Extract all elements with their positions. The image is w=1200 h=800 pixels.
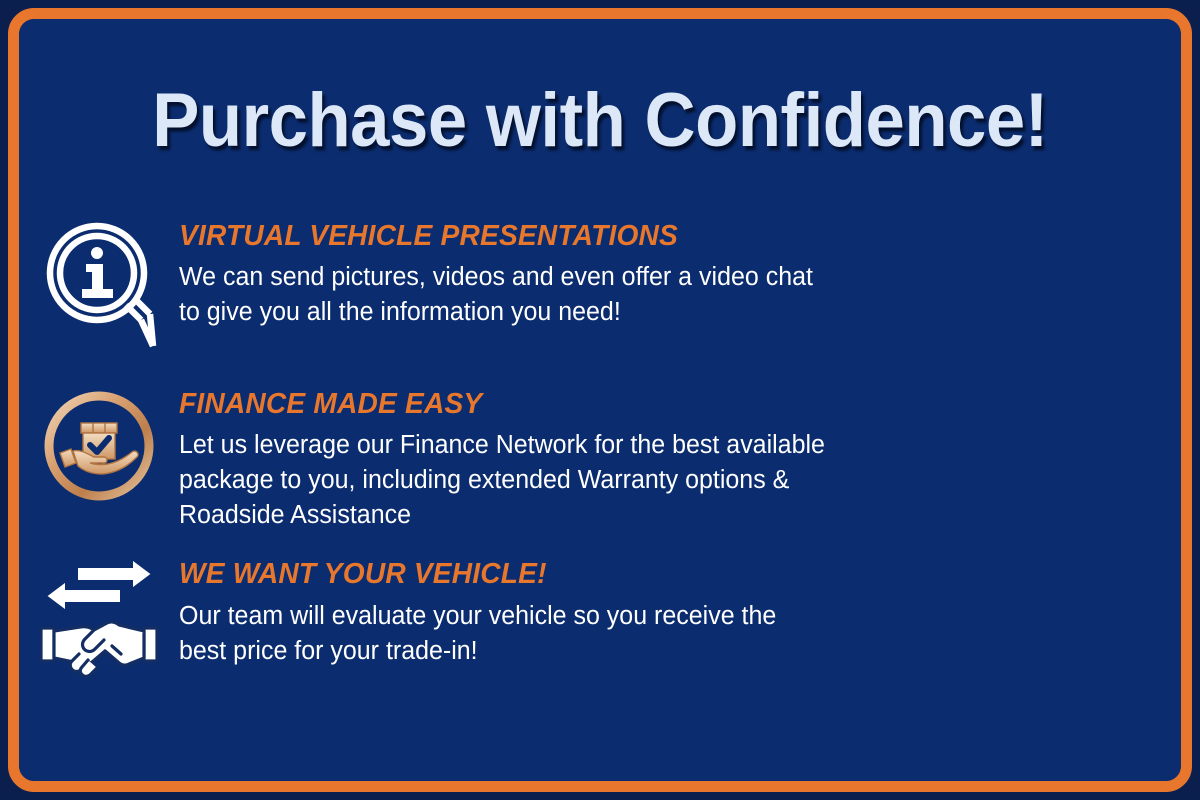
feature-body-line: We can send pictures, videos and even of… (179, 260, 813, 295)
feature-heading: VIRTUAL VEHICLE PRESENTATIONS (179, 221, 806, 251)
feature-item-virtual-presentations: VIRTUAL VEHICLE PRESENTATIONS We can sen… (19, 215, 1181, 355)
feature-body-line: Let us leverage our Finance Network for … (179, 428, 825, 463)
feature-heading: WE WANT YOUR VEHICLE! (179, 559, 770, 589)
feature-body: Let us leverage our Finance Network for … (179, 428, 825, 533)
exchange-arrows-handshake-icon (33, 557, 165, 679)
feature-body: We can send pictures, videos and even of… (179, 260, 813, 330)
hand-holding-package-check-icon (40, 387, 158, 505)
orange-border-frame: Purchase with Confidence! (8, 8, 1192, 792)
feature-body-line: Our team will evaluate your vehicle so y… (179, 599, 776, 634)
feature-heading: FINANCE MADE EASY (179, 389, 818, 419)
feature-icon-cell (19, 215, 179, 351)
feature-body-line: best price for your trade-in! (179, 634, 776, 669)
promo-banner: Purchase with Confidence! (0, 0, 1200, 800)
feature-icon-cell (19, 553, 179, 679)
feature-text-cell: VIRTUAL VEHICLE PRESENTATIONS We can sen… (179, 215, 826, 330)
feature-item-finance-made-easy: FINANCE MADE EASY Let us leverage our Fi… (19, 383, 1181, 533)
feature-text-cell: FINANCE MADE EASY Let us leverage our Fi… (179, 383, 838, 533)
feature-body: Our team will evaluate your vehicle so y… (179, 599, 776, 669)
banner-title: Purchase with Confidence! (60, 83, 1141, 159)
feature-icon-cell (19, 383, 179, 505)
feature-text-cell: WE WANT YOUR VEHICLE! Our team will eval… (179, 553, 788, 668)
feature-item-we-want-your-vehicle: WE WANT YOUR VEHICLE! Our team will eval… (19, 553, 1181, 693)
feature-list: VIRTUAL VEHICLE PRESENTATIONS We can sen… (19, 215, 1181, 693)
magnifying-glass-info-icon (40, 219, 158, 351)
feature-body-line: to give you all the information you need… (179, 295, 813, 330)
feature-body-line: Roadside Assistance (179, 498, 825, 533)
feature-body-line: package to you, including extended Warra… (179, 463, 825, 498)
